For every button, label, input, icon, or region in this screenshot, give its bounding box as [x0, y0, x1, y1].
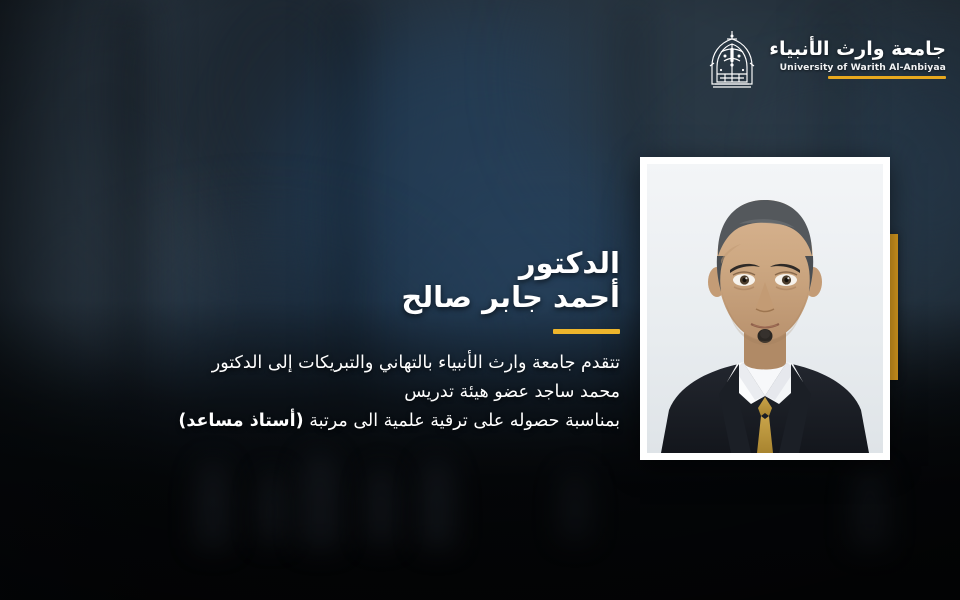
message-line-3-text: بمناسبة حصوله على ترقية علمية الى مرتبة — [304, 411, 620, 431]
rank-award: (أستاذ مساعد) — [178, 411, 303, 431]
university-name-english: University of Warith Al-Anbiyaa — [769, 62, 946, 74]
honoree-title: الدكتور — [60, 246, 620, 280]
message-line-2: محمد ساجد عضو هيئة تدريس — [60, 378, 620, 407]
congratulation-card: جامعة وارث الأنبياء University of Warith… — [0, 0, 960, 600]
university-name-arabic: جامعة وارث الأنبياء — [769, 39, 946, 61]
logo-text-group: جامعة وارث الأنبياء University of Warith… — [769, 39, 946, 79]
message-line-3: بمناسبة حصوله على ترقية علمية الى مرتبة … — [60, 407, 620, 436]
university-logo: جامعة وارث الأنبياء University of Warith… — [705, 28, 946, 90]
congratulation-message: تتقدم جامعة وارث الأنبياء بالتهاني والتب… — [60, 349, 620, 437]
honoree-name: أحمد جابر صالح — [60, 280, 620, 315]
portrait-frame — [640, 157, 890, 460]
gold-divider — [553, 329, 620, 334]
university-emblem-icon — [705, 28, 759, 90]
card-text-block: الدكتور أحمد جابر صالح تتقدم جامعة وارث … — [60, 246, 620, 437]
portrait-photo — [647, 164, 883, 453]
message-line-1: تتقدم جامعة وارث الأنبياء بالتهاني والتب… — [60, 349, 620, 378]
logo-gold-underline — [828, 76, 946, 78]
